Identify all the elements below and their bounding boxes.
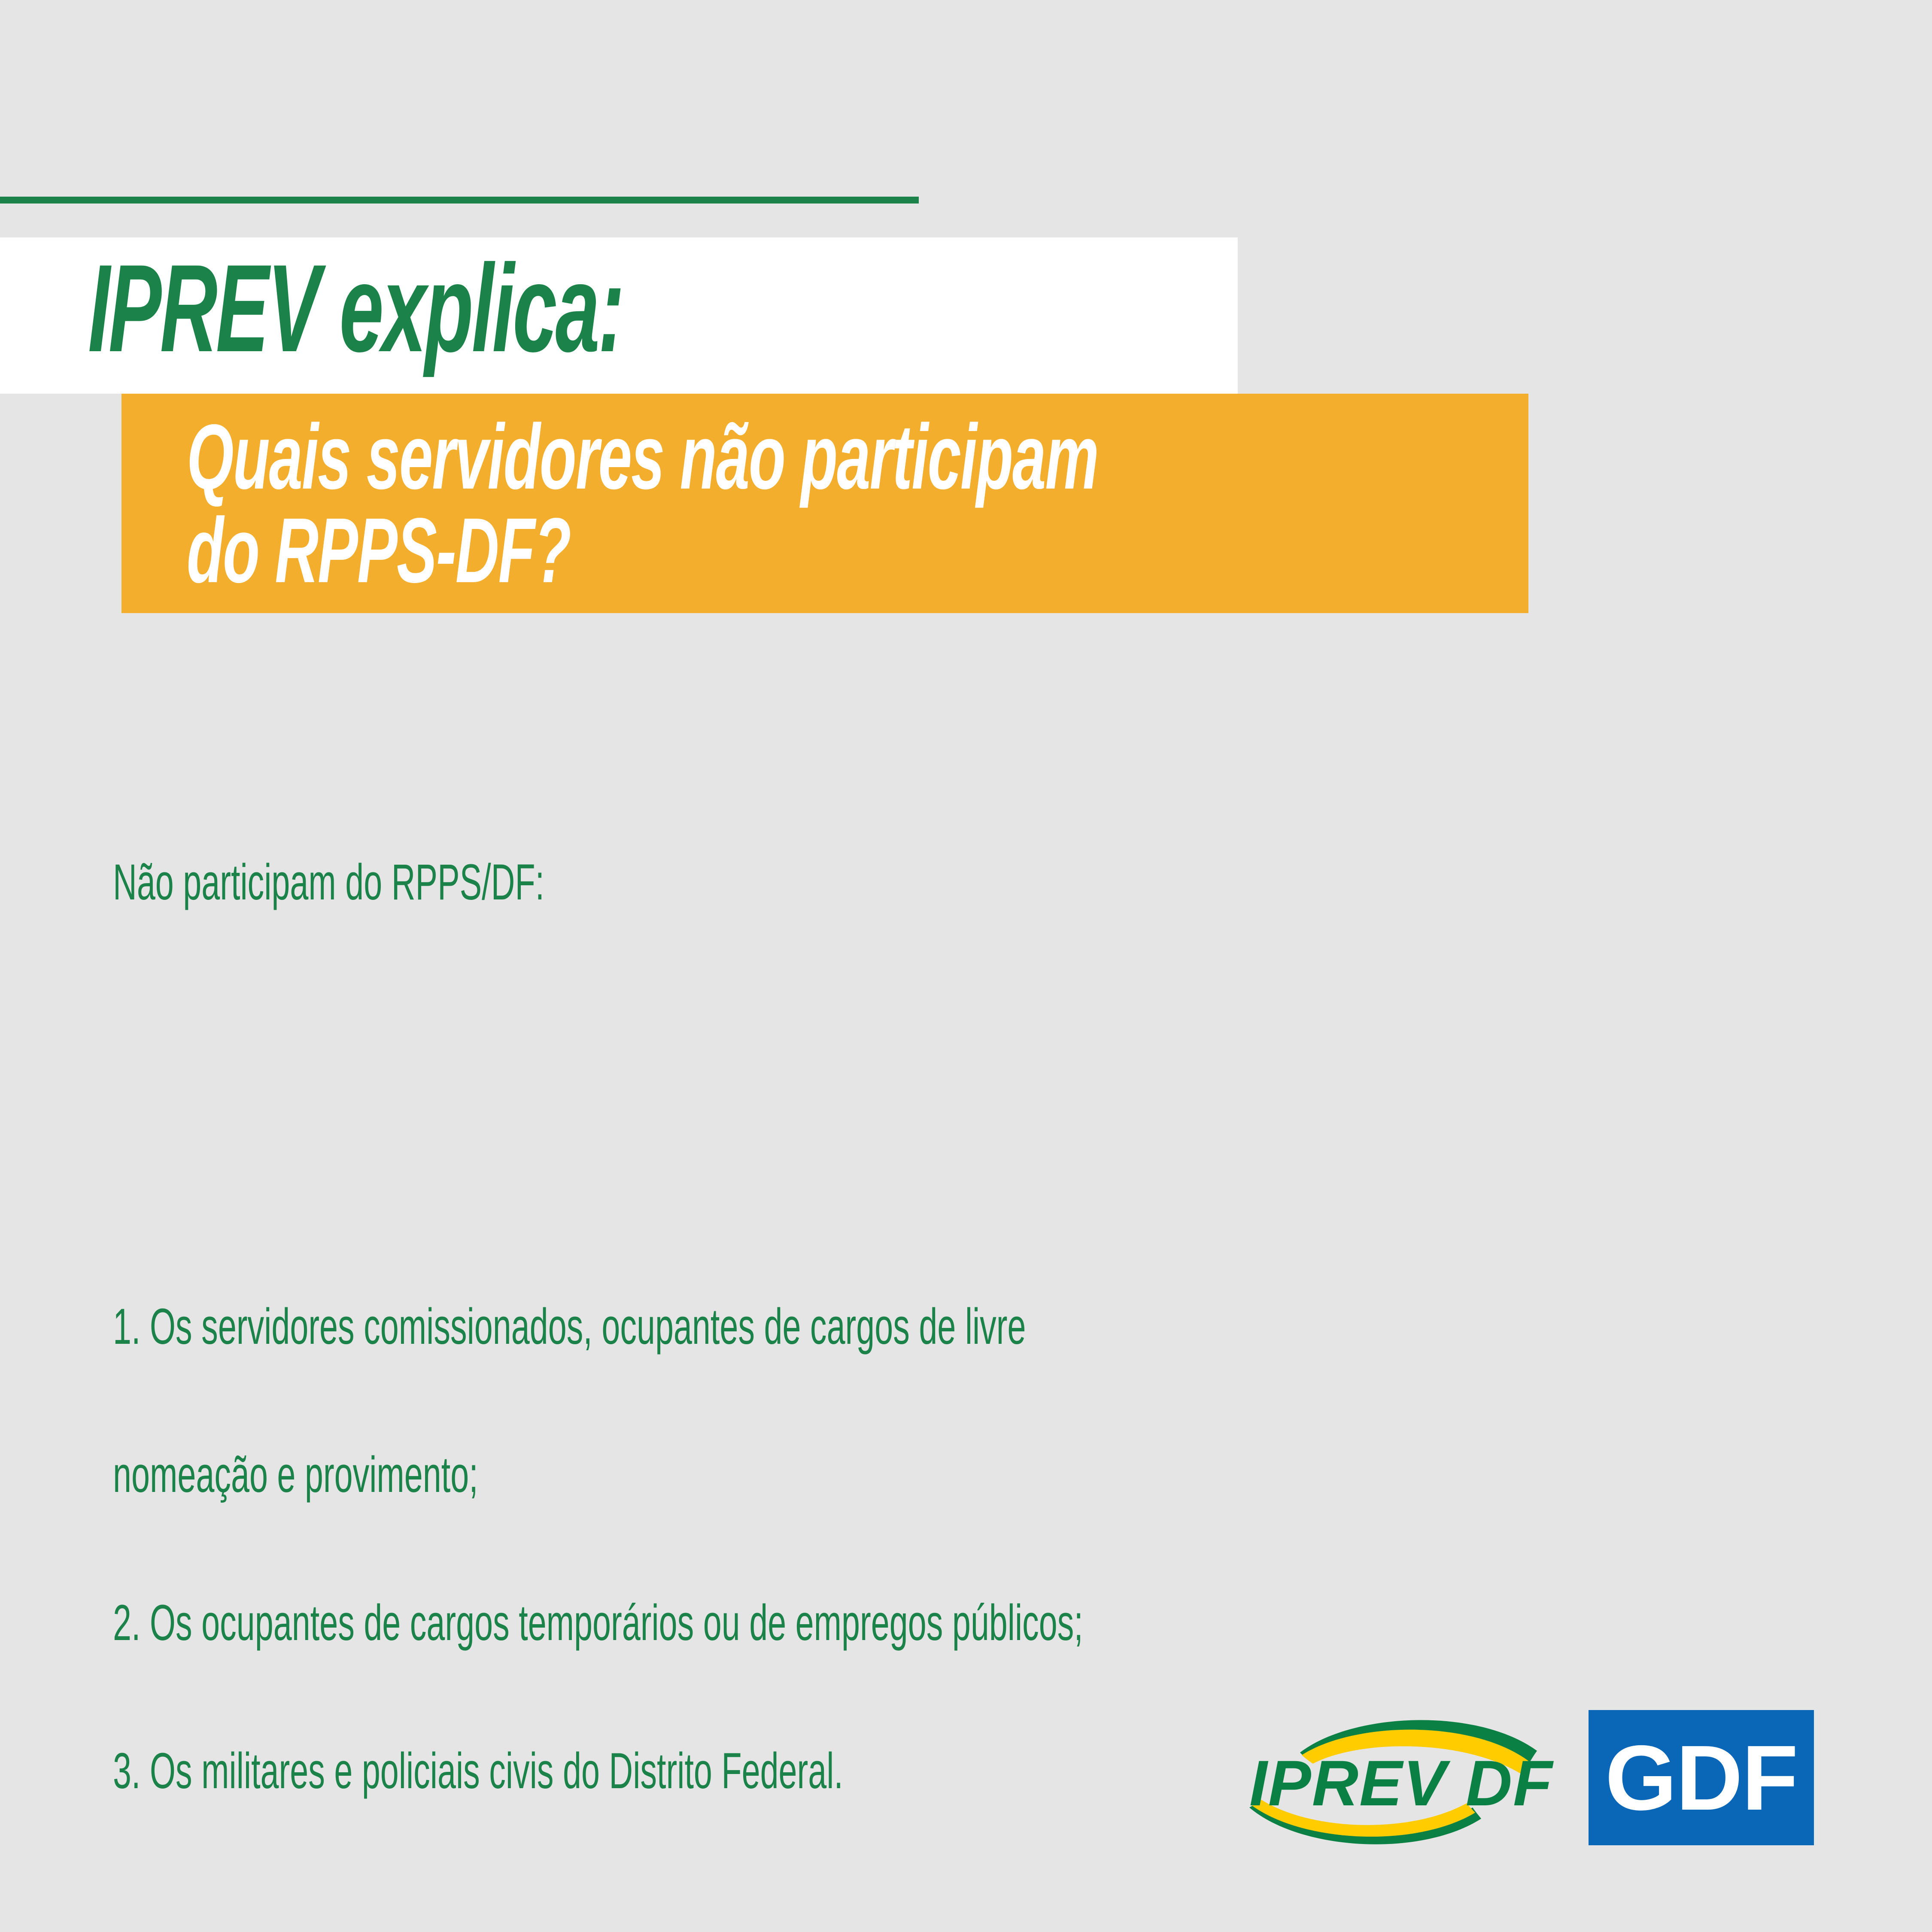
gdf-logo: GDF: [1589, 1710, 1814, 1845]
top-green-rule: [0, 197, 919, 204]
iprev-df-logo: IPREV DF: [1236, 1700, 1554, 1863]
body-list-item-1-cont: nomeação e provimento;: [113, 1450, 1829, 1500]
gdf-logo-text: GDF: [1589, 1710, 1814, 1845]
iprev-df-wordmark: IPREV DF: [1249, 1751, 1546, 1815]
page-subtitle: Quais servidores não participam do RPPS-…: [187, 410, 1143, 597]
footer-logo-group: IPREV DF GDF: [1236, 1700, 1838, 1872]
body-spacer: [113, 1154, 1829, 1203]
body-list-item-2: 2. Os ocupantes de cargos temporários ou…: [113, 1598, 1829, 1648]
body-spacer: [113, 1006, 1829, 1055]
page-title: IPREV explica:: [88, 246, 623, 371]
body-intro-line: Não participam do RPPS/DF:: [113, 858, 1829, 907]
body-list-item-1: 1. Os servidores comissionados, ocupante…: [113, 1302, 1829, 1352]
poster-canvas: IPREV explica: Quais servidores não part…: [0, 0, 1932, 1932]
